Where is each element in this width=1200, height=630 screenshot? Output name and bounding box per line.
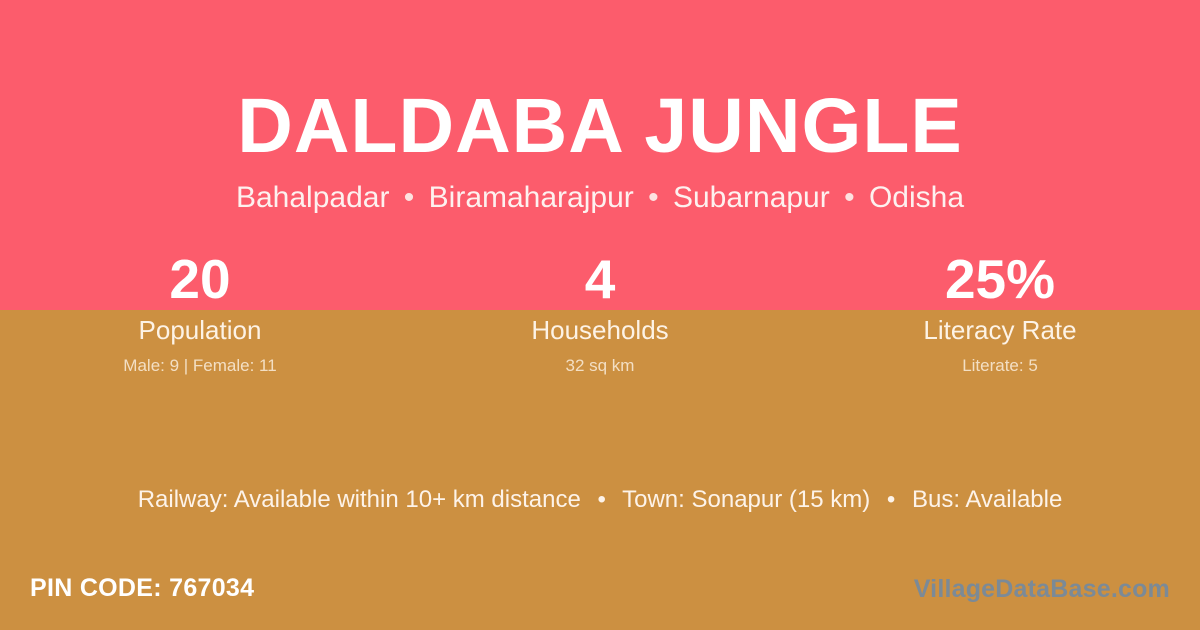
town-info: Town: Sonapur (15 km) <box>622 486 870 513</box>
transport-info: Railway: Available within 10+ km distanc… <box>0 484 1200 516</box>
village-info-card: DALDABA JUNGLE Bahalpadar • Biramaharajp… <box>0 0 1200 630</box>
stat-literacy-rate: 25% Literacy Rate Literate: 5 <box>800 248 1200 377</box>
stat-label: Literacy Rate <box>800 315 1200 345</box>
stat-households: 4 Households 32 sq km <box>400 248 800 377</box>
stat-sublabel: 32 sq km <box>400 355 800 377</box>
stats-row: 20 Population Male: 9 | Female: 11 4 Hou… <box>0 248 1200 377</box>
stat-label: Households <box>400 315 800 345</box>
info-separator: • <box>877 486 905 513</box>
stat-value: 20 <box>0 248 400 310</box>
stat-sublabel: Male: 9 | Female: 11 <box>0 355 400 377</box>
pin-code: PIN CODE: 767034 <box>30 572 254 604</box>
breadcrumb-village: Bahalpadar <box>236 181 389 214</box>
breadcrumb: Bahalpadar • Biramaharajpur • Subarnapur… <box>0 170 1200 216</box>
footer: PIN CODE: 767034 VillageDataBase.com <box>0 558 1200 630</box>
stat-value: 25% <box>800 248 1200 310</box>
site-brand: VillageDataBase.com <box>914 574 1170 604</box>
stat-sublabel: Literate: 5 <box>800 355 1200 377</box>
breadcrumb-separator: • <box>838 181 861 214</box>
stat-population: 20 Population Male: 9 | Female: 11 <box>0 248 400 377</box>
breadcrumb-separator: • <box>398 181 421 214</box>
breadcrumb-separator: • <box>642 181 665 214</box>
stat-label: Population <box>0 315 400 345</box>
page-title: DALDABA JUNGLE <box>0 0 1200 170</box>
railway-info: Railway: Available within 10+ km distanc… <box>138 486 581 513</box>
info-separator: • <box>587 486 615 513</box>
breadcrumb-block: Biramaharajpur <box>429 181 634 214</box>
header: DALDABA JUNGLE Bahalpadar • Biramaharajp… <box>0 0 1200 216</box>
breadcrumb-state: Odisha <box>869 181 964 214</box>
bus-info: Bus: Available <box>912 486 1062 513</box>
breadcrumb-district: Subarnapur <box>673 181 830 214</box>
stat-value: 4 <box>400 248 800 310</box>
